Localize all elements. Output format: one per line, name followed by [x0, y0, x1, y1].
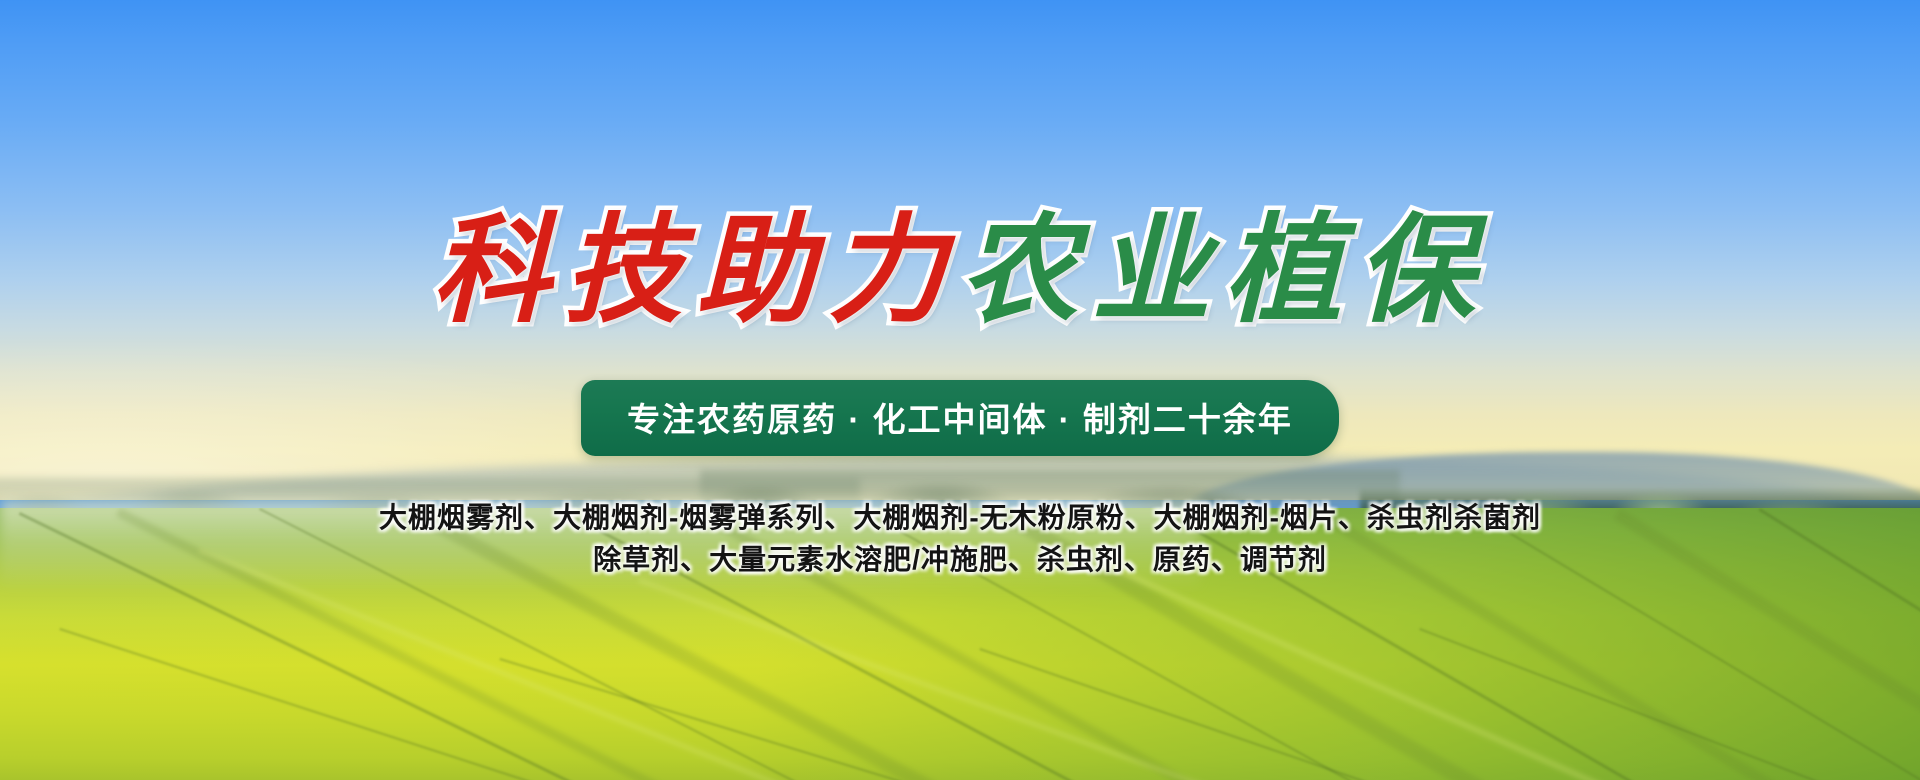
tagline-container: 专注农药原药 · 化工中间体 · 制剂二十余年 [0, 380, 1920, 456]
page-title-red-segment: 科技助力 [432, 200, 960, 339]
field-furrow [979, 648, 1831, 780]
field-furrow [499, 658, 1360, 780]
field-furrow [1118, 568, 1851, 780]
field-furrow [198, 548, 1034, 780]
page-title-green-segment: 农业植保 [960, 200, 1488, 339]
product-list-line-1: 大棚烟雾剂、大棚烟剂-烟雾弹系列、大棚烟剂-无木粉原粉、大棚烟剂-烟片、杀虫剂杀… [0, 497, 1920, 539]
page-title: 科技助力农业植保 [0, 200, 1920, 339]
product-list: 大棚烟雾剂、大棚烟剂-烟雾弹系列、大棚烟剂-无木粉原粉、大棚烟剂-烟片、杀虫剂杀… [0, 497, 1920, 581]
tagline-badge: 专注农药原药 · 化工中间体 · 制剂二十余年 [581, 380, 1339, 456]
hero-banner: 科技助力农业植保 专注农药原药 · 化工中间体 · 制剂二十余年 大棚烟雾剂、大… [0, 0, 1920, 780]
product-list-line-2: 除草剂、大量元素水溶肥/冲施肥、杀虫剂、原药、调节剂 [0, 539, 1920, 581]
